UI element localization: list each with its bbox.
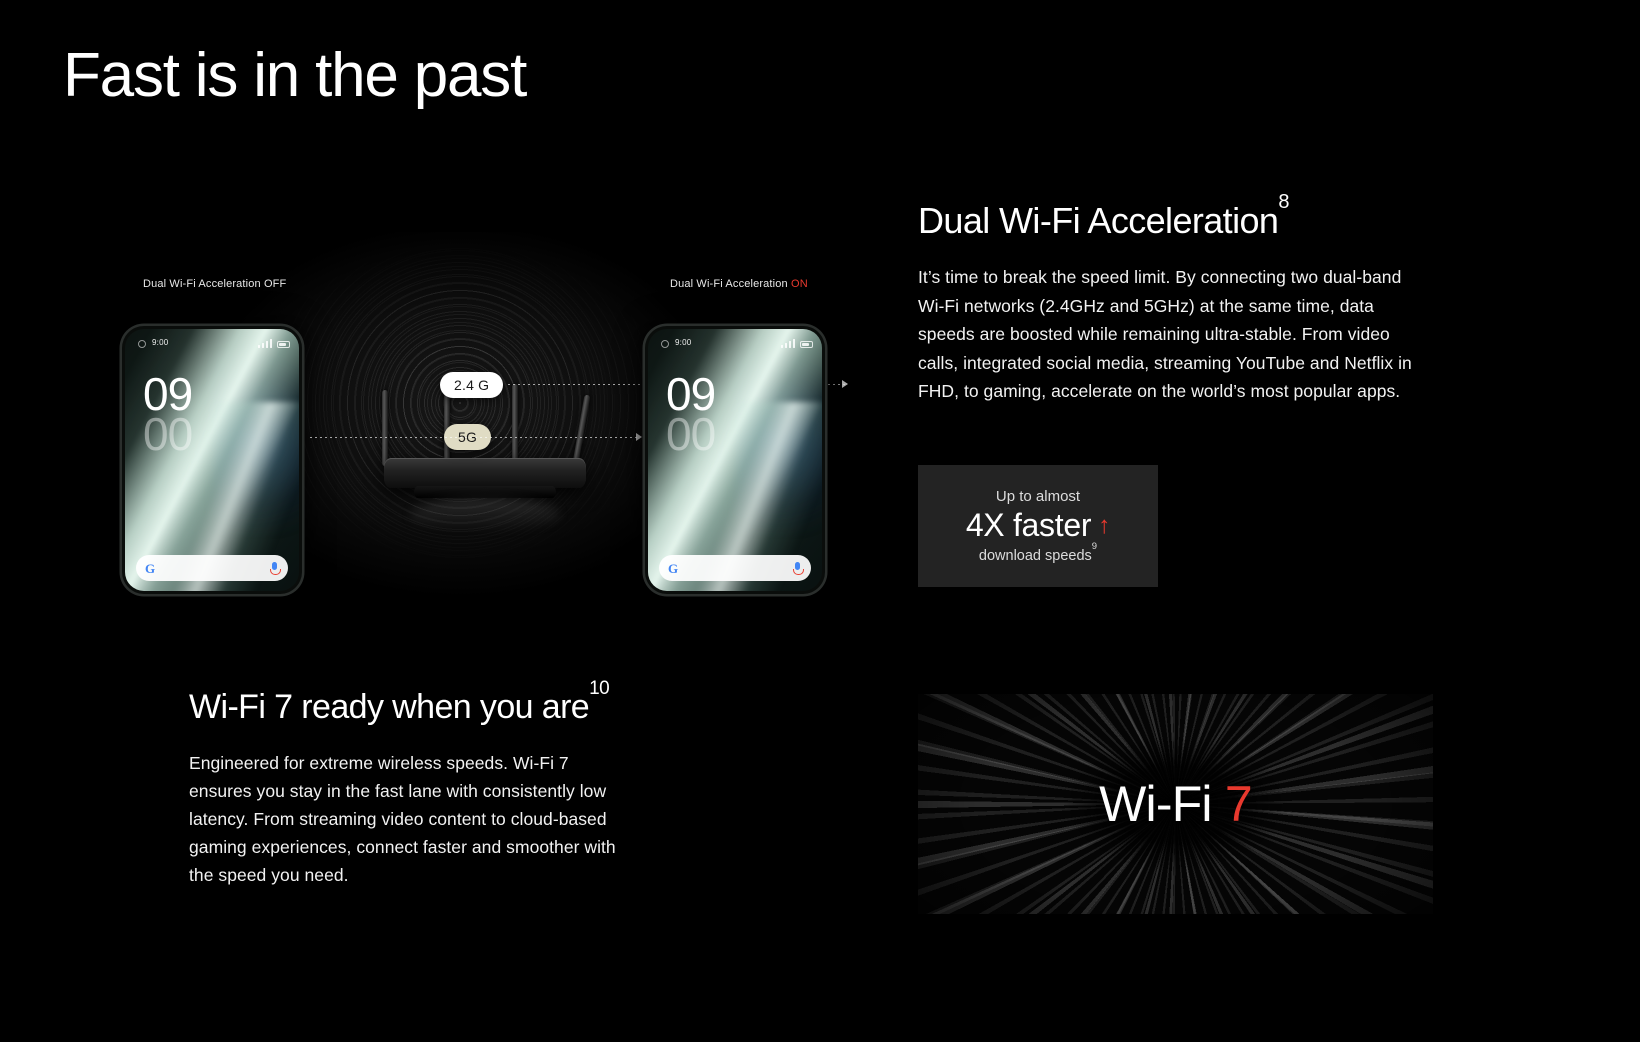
clock-minutes: 00 (666, 414, 715, 454)
phone-right-status-icons (781, 338, 813, 348)
signal-bar-icon (793, 339, 795, 348)
microphone-icon[interactable] (270, 562, 279, 575)
google-logo-icon: G (145, 562, 155, 575)
stat-card-value-row: 4X faster ↑ (966, 507, 1110, 544)
stat-card-download-speed: Up to almost 4X faster ↑ download speeds… (918, 465, 1158, 587)
wifi7-label-prefix: Wi-Fi (1099, 776, 1225, 832)
google-search-bar-right[interactable]: G (659, 555, 811, 581)
phone-left-screen: 9:00 09 00 G (125, 329, 299, 591)
router-body (384, 458, 586, 488)
phone-right-lockscreen-clock: 09 00 (666, 374, 715, 455)
dual-wifi-body: It’s time to break the speed limit. By c… (918, 263, 1418, 406)
battery-icon (800, 341, 813, 348)
wifi7-heading-text: Wi-Fi 7 ready when you are (189, 688, 589, 726)
signal-bar-icon (785, 343, 787, 348)
caption-on-state: ON (791, 278, 808, 290)
microphone-icon[interactable] (793, 562, 802, 575)
phone-right-screen: 9:00 09 00 G (648, 329, 822, 591)
wifi7-visual-panel: Wi-Fi 7 (918, 694, 1433, 914)
phone-mockup-left: 9:00 09 00 G (122, 326, 302, 594)
signal-bar-icon (266, 341, 268, 348)
caption-on-prefix: Dual Wi-Fi Acceleration (670, 278, 791, 290)
signal-bar-icon (258, 345, 260, 348)
caption-acceleration-off: Dual Wi-Fi Acceleration OFF (143, 278, 286, 290)
router-reflection (410, 498, 560, 532)
dual-wifi-text-column: Dual Wi-Fi Acceleration8 It’s time to br… (918, 200, 1418, 406)
clock-minutes: 00 (143, 414, 192, 454)
front-camera-icon (138, 340, 146, 348)
wifi7-text-column: Wi-Fi 7 ready when you are10 Engineered … (189, 688, 659, 889)
arrow-up-icon: ↑ (1098, 514, 1110, 538)
wifi7-body: Engineered for extreme wireless speeds. … (189, 749, 621, 889)
phone-left-status-icons (258, 338, 290, 348)
router-antenna (382, 390, 388, 466)
connector-arrow-icon (636, 433, 642, 441)
stat-card-bottom-label: download speeds9 (979, 546, 1097, 564)
phone-mockup-right: 9:00 09 00 G (645, 326, 825, 594)
router-antenna (512, 384, 518, 466)
stat-card-bottom-footnote: 9 (1092, 541, 1097, 552)
battery-icon (277, 341, 290, 348)
hero-product-image: Dual Wi-Fi Acceleration OFF Dual Wi-Fi A… (40, 232, 880, 604)
signal-bar-icon (789, 341, 791, 348)
signal-bar-icon (781, 345, 783, 348)
dual-wifi-heading-footnote: 8 (1278, 191, 1289, 213)
stat-card-bottom-text: download speeds (979, 548, 1092, 564)
page-title: Fast is in the past (63, 43, 526, 108)
band-badge-2-4g: 2.4 G (440, 372, 503, 398)
google-search-bar-left[interactable]: G (136, 555, 288, 581)
stat-card-top-label: Up to almost (996, 488, 1080, 505)
front-camera-icon (661, 340, 669, 348)
marketing-page: Fast is in the past Dual Wi-Fi Accelerat… (0, 0, 1640, 1042)
router-antenna (572, 395, 590, 467)
google-logo-icon: G (668, 562, 678, 575)
dual-wifi-heading-text: Dual Wi-Fi Acceleration (918, 200, 1278, 241)
router-base (414, 486, 556, 498)
phone-right-status-time: 9:00 (675, 338, 691, 347)
connector-line-5g (310, 437, 640, 438)
router-illustration (370, 392, 600, 522)
wifi7-heading: Wi-Fi 7 ready when you are10 (189, 688, 659, 727)
dual-wifi-heading: Dual Wi-Fi Acceleration8 (918, 200, 1418, 241)
phone-left-status-time: 9:00 (152, 338, 168, 347)
wifi7-panel-label: Wi-Fi 7 (918, 775, 1433, 833)
wifi7-heading-footnote: 10 (589, 678, 609, 699)
connector-arrow-icon (842, 380, 848, 388)
signal-bar-icon (270, 339, 272, 348)
signal-bar-icon (262, 343, 264, 348)
caption-acceleration-on: Dual Wi-Fi Acceleration ON (670, 278, 808, 290)
phone-left-lockscreen-clock: 09 00 (143, 374, 192, 455)
wifi7-label-number: 7 (1225, 776, 1252, 832)
stat-card-value: 4X faster (966, 507, 1091, 544)
